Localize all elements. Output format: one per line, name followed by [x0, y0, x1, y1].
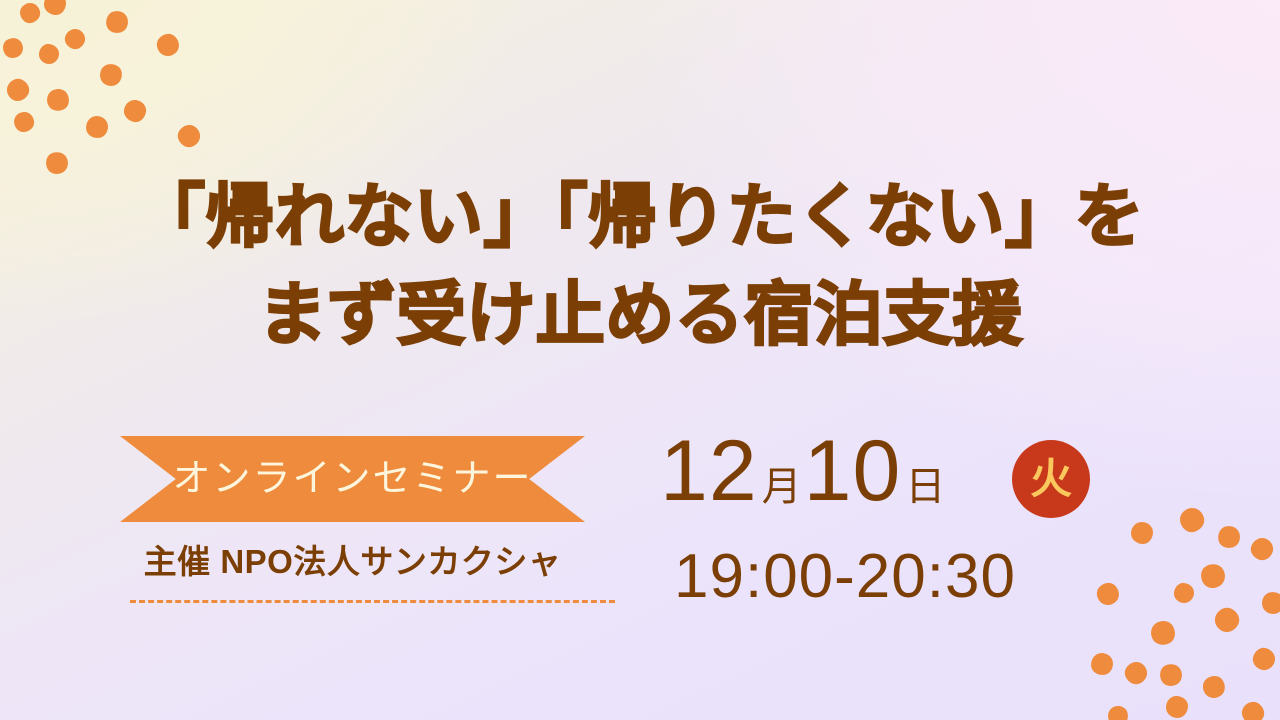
- decorative-dot: [1199, 672, 1230, 703]
- date-day-unit: 日: [905, 467, 945, 507]
- page-title: 「帰れない」「帰りたくない」を まず受け止める宿泊支援: [0, 168, 1280, 364]
- decorative-dot: [152, 29, 183, 60]
- decorative-dot: [43, 85, 73, 115]
- decorative-dot: [1157, 661, 1186, 690]
- event-date: 12 月 10 日 火: [660, 428, 1100, 524]
- headline-line-2: まず受け止める宿泊支援: [0, 266, 1280, 364]
- decorative-dot: [1248, 535, 1276, 563]
- decorative-dot: [1196, 559, 1229, 592]
- decorative-dot: [1260, 590, 1280, 616]
- decorative-dot: [1166, 696, 1188, 718]
- decorative-dot: [1106, 704, 1131, 720]
- decorative-dot: [44, 0, 66, 15]
- seminar-poster: 「帰れない」「帰りたくない」を まず受け止める宿泊支援 オンラインセミナー 主催…: [0, 0, 1280, 720]
- decorative-dot: [1131, 522, 1153, 544]
- event-meta-left: オンラインセミナー 主催 NPO法人サンカクシャ: [120, 436, 620, 603]
- decorative-dot: [1175, 503, 1209, 537]
- online-seminar-ribbon: オンラインセミナー: [120, 436, 585, 522]
- decorative-dot: [16, 0, 44, 27]
- ribbon-label: オンラインセミナー: [172, 460, 532, 498]
- decorative-dot: [0, 34, 27, 62]
- decorative-dot: [1238, 698, 1269, 720]
- decorative-dot: [174, 121, 204, 151]
- decorative-dot: [1173, 582, 1195, 604]
- decorative-dot: [62, 26, 88, 52]
- weekday-badge: 火: [1012, 440, 1090, 518]
- decorative-dot: [1147, 617, 1179, 649]
- decorative-dot: [3, 75, 32, 104]
- headline-line-1: 「帰れない」「帰りたくない」を: [0, 168, 1280, 266]
- event-time: 19:00-20:30: [674, 546, 1100, 608]
- weekday-badge-label: 火: [1030, 458, 1072, 500]
- decorative-dot: [1211, 604, 1243, 636]
- decorative-dot: [10, 108, 38, 136]
- decorative-dot: [1090, 652, 1114, 676]
- event-meta-right: 12 月 10 日 火 19:00-20:30: [660, 428, 1100, 608]
- organizer-text: 主催 NPO法人サンカクシャ: [120, 544, 585, 580]
- date-month-unit: 月: [762, 467, 802, 507]
- decorative-dot: [1121, 658, 1151, 688]
- date-day-number: 10: [804, 428, 902, 514]
- decorative-dot: [122, 98, 147, 123]
- decorative-dot: [1251, 646, 1278, 673]
- decorative-dot: [103, 8, 130, 35]
- decorative-dot: [38, 43, 60, 65]
- decorative-dot: [85, 115, 109, 139]
- date-month-number: 12: [660, 428, 758, 514]
- dashed-divider: [130, 600, 615, 603]
- decorative-dot: [1215, 523, 1242, 550]
- decorative-dot: [98, 62, 124, 88]
